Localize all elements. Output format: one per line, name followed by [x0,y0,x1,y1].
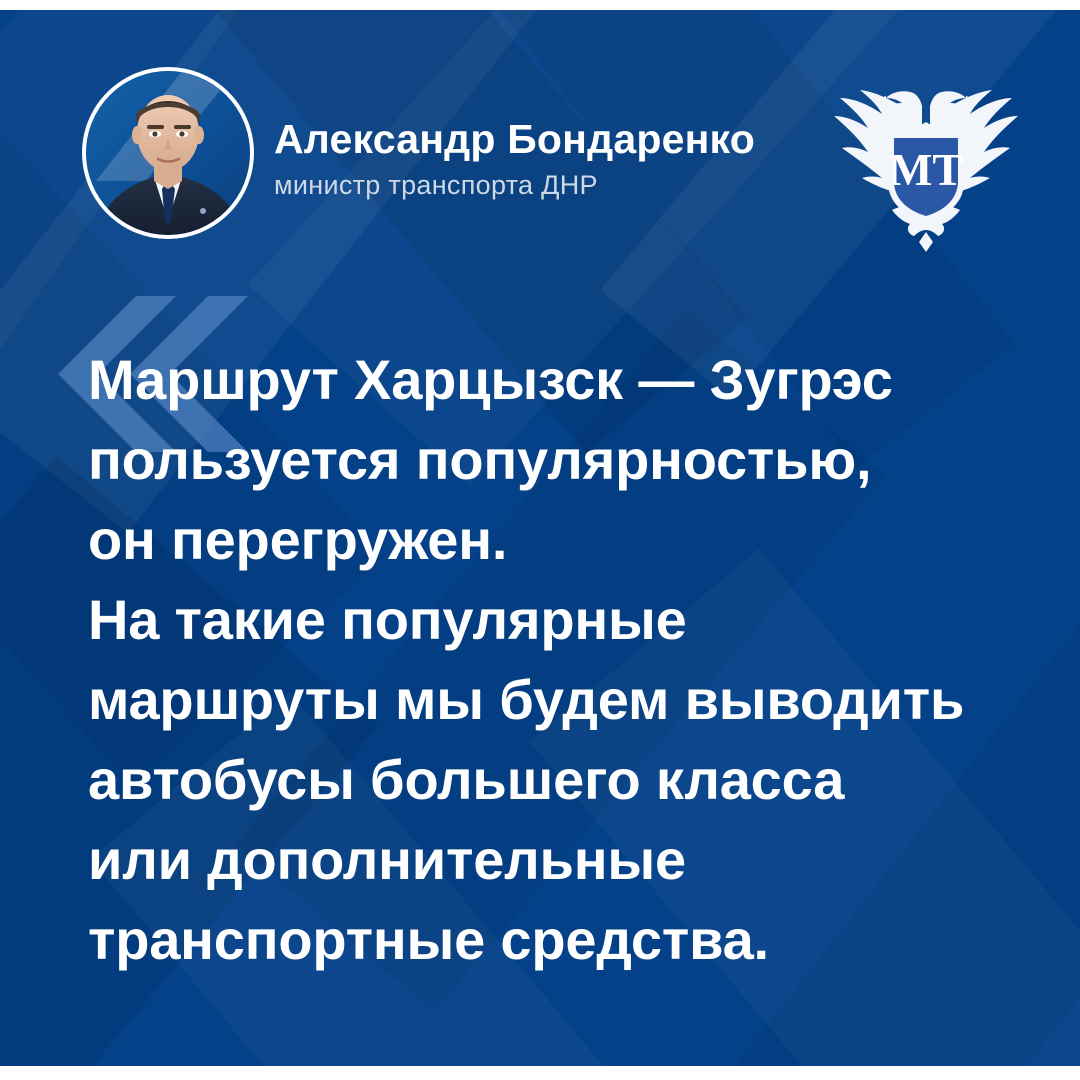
quote-line: маршруты мы будем выводить [88,660,1048,740]
quote-line: он перегружен. [88,500,1048,580]
speaker-role: министр транспорта ДНР [274,170,834,201]
quote-text: Маршрут Харцызск — Зугрэс пользуется поп… [88,340,1048,980]
quote-line: или дополнительные [88,820,1048,900]
speaker-info: Александр Бондаренко министр транспорта … [274,118,834,201]
quote-line: пользуется популярностью, [88,420,1048,500]
quote-line: Маршрут Харцызск — Зугрэс [88,340,1048,420]
avatar [82,67,254,239]
svg-text:МТ: МТ [889,144,963,195]
avatar-photo [86,71,250,235]
ministry-emblem-icon: МТ [830,70,1022,255]
quote-line: транспортные средства. [88,900,1048,980]
quote-line: На такие популярные [88,580,1048,660]
speaker-name: Александр Бондаренко [274,118,834,161]
header: Александр Бондаренко министр транспорта … [0,10,1080,290]
social-quote-card: Александр Бондаренко министр транспорта … [0,0,1080,1080]
quote-line: автобусы большего класса [88,740,1048,820]
blue-card: Александр Бондаренко министр транспорта … [0,10,1080,1066]
